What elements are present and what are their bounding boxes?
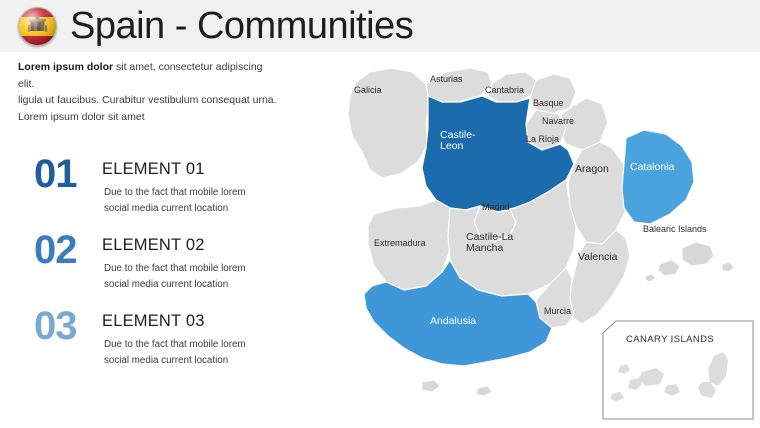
map-label-castile-la-mancha-line-2: Mancha — [466, 243, 513, 254]
map-label-murcia: Murcia — [544, 306, 571, 317]
map-label-balearic-islands: Balearic Islands — [643, 224, 707, 235]
element-item-03[interactable]: 03 ELEMENT 03 Due to the fact that mobil… — [22, 304, 312, 380]
element-desc-01: Due to the fact that mobile lorem social… — [104, 185, 319, 217]
slide-root: Spain - Communities Lorem ipsum dolor si… — [0, 0, 760, 428]
intro-bold-lead: Lorem ipsum dolor — [18, 61, 113, 73]
map-label-castile-la-mancha: Castile-La Mancha — [466, 232, 513, 254]
element-desc-02-line-2: social media current location — [104, 277, 319, 293]
element-number-03: 03 — [34, 304, 77, 348]
element-desc-01-line-1: Due to the fact that mobile lorem — [104, 185, 319, 201]
map-label-aragon: Aragon — [575, 164, 609, 175]
map-label-castile-leon: Castile- Leon — [440, 130, 476, 152]
map-label-valencia: Valencia — [578, 252, 618, 263]
element-title-01: ELEMENT 01 — [102, 160, 205, 179]
map-region-catalonia[interactable] — [622, 130, 694, 224]
map-label-extremadura: Extremadura — [374, 238, 426, 249]
map-label-castile-leon-line-2: Leon — [440, 141, 476, 152]
map-label-la-rioja: La Rioja — [526, 134, 559, 145]
map-label-madrid: Madrid — [482, 202, 510, 213]
element-item-01[interactable]: 01 ELEMENT 01 Due to the fact that mobil… — [22, 152, 312, 228]
map-label-galicia: Galicia — [354, 85, 382, 96]
map-label-cantabria: Cantabria — [485, 85, 524, 96]
element-title-03: ELEMENT 03 — [102, 312, 205, 331]
canary-islands-label: CANARY ISLANDS — [626, 334, 714, 345]
canary-islands-inset[interactable]: CANARY ISLANDS — [602, 320, 754, 420]
map-region-balearic-islands[interactable] — [645, 242, 734, 282]
element-desc-02: Due to the fact that mobile lorem social… — [104, 261, 319, 293]
intro-line-2: ligula ut faucibus. Curabitur vestibulum… — [18, 92, 278, 109]
map-region-north-africa-enclaves — [422, 380, 492, 396]
element-desc-02-line-1: Due to the fact that mobile lorem — [104, 261, 319, 277]
map-region-valencia[interactable] — [568, 230, 630, 324]
intro-line-1: Lorem ipsum dolor sit amet, consectetur … — [18, 59, 278, 92]
element-title-02: ELEMENT 02 — [102, 236, 205, 255]
intro-paragraph: Lorem ipsum dolor sit amet, consectetur … — [18, 59, 278, 125]
element-desc-03-line-2: social media current location — [104, 353, 319, 369]
element-desc-03-line-1: Due to the fact that mobile lorem — [104, 337, 319, 353]
map-label-andalusia: Andalusia — [430, 316, 476, 327]
element-desc-03: Due to the fact that mobile lorem social… — [104, 337, 319, 369]
element-number-01: 01 — [34, 152, 77, 196]
element-desc-01-line-2: social media current location — [104, 201, 319, 217]
map-region-aragon[interactable] — [568, 142, 630, 244]
map-label-asturias: Asturias — [430, 74, 463, 85]
intro-line-3: Lorem ipsum dolor sit amet — [18, 109, 278, 126]
page-title: Spain - Communities — [70, 3, 413, 49]
map-label-catalonia: Catalonia — [630, 162, 674, 173]
element-item-02[interactable]: 02 ELEMENT 02 Due to the fact that mobil… — [22, 228, 312, 304]
map-label-navarre: Navarre — [542, 116, 574, 127]
spain-flag-circle-icon — [18, 7, 57, 46]
flag-svg — [18, 7, 57, 46]
element-number-02: 02 — [34, 228, 77, 272]
map-label-basque: Basque — [533, 98, 564, 109]
